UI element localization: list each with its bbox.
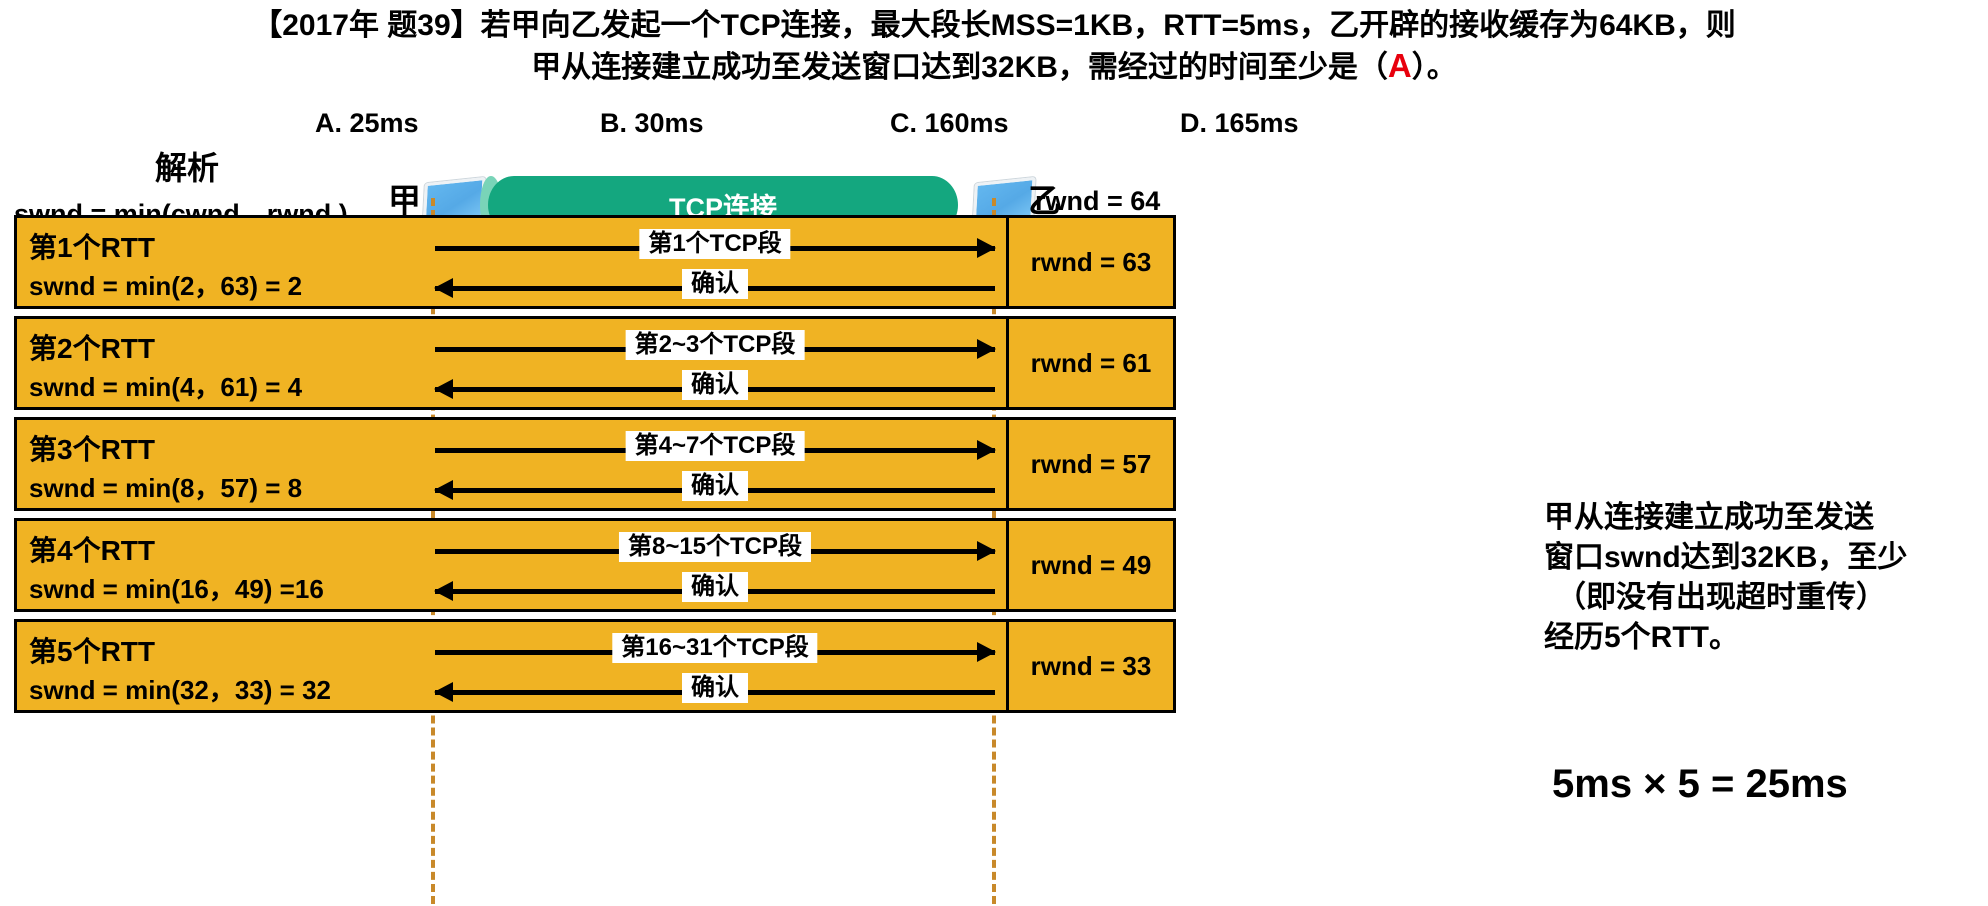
question-line-2: 甲从连接建立成功至发送窗口达到32KB，需经过的时间至少是（A）。 [0,46,1988,88]
rtt-swnd: swnd = min(16，49) =16 [29,569,324,606]
rtt-row: 第3个RTT swnd = min(8，57) = 8 第4~7个TCP段 确认… [14,417,1176,511]
explanation-line-1: 甲从连接建立成功至发送 [1544,492,1874,536]
segment-label: 第1个TCP段 [639,229,790,259]
rtt-swnd: swnd = min(32，33) = 32 [29,670,331,707]
rwnd-value: rwnd = 57 [1006,420,1173,508]
explanation-line-4: 经历5个RTT。 [1544,612,1739,656]
ack-label: 确认 [682,370,748,400]
rtt-row: 第4个RTT swnd = min(16，49) =16 第8~15个TCP段 … [14,518,1176,612]
rtt-row: 第2个RTT swnd = min(4，61) = 4 第2~3个TCP段 确认… [14,316,1176,410]
question-line-1: 【2017年 题39】若甲向乙发起一个TCP连接，最大段长MSS=1KB，RTT… [0,6,1988,46]
rwnd-value: rwnd = 61 [1006,319,1173,407]
rwnd-initial-value: rwnd = 64 [1035,186,1160,217]
arrow-head-right-icon [977,440,996,460]
rtt-title: 第4个RTT [29,529,155,569]
arrow-head-right-icon [977,541,996,561]
arrow-head-left-icon [434,682,453,702]
rwnd-value: rwnd = 63 [1006,218,1173,306]
segment-label: 第8~15个TCP段 [619,532,811,562]
rtt-title: 第2个RTT [29,327,155,367]
arrow-head-left-icon [434,379,453,399]
arrow-head-right-icon [977,339,996,359]
rtt-row: 第5个RTT swnd = min(32，33) = 32 第16~31个TCP… [14,619,1176,713]
option-a[interactable]: A. 25ms [315,108,419,139]
question-line-2-after: ）。 [1412,51,1457,84]
explanation-line-3: （即没有出现超时重传） [1556,572,1886,616]
arrow-head-right-icon [977,238,996,258]
arrow-head-left-icon [434,480,453,500]
segment-label: 第2~3个TCP段 [626,330,805,360]
arrow-head-left-icon [434,278,453,298]
rtt-title: 第3个RTT [29,428,155,468]
question-block: 【2017年 题39】若甲向乙发起一个TCP连接，最大段长MSS=1KB，RTT… [0,6,1988,88]
rtt-rows-container: 第1个RTT swnd = min(2，63) = 2 第1个TCP段 确认 r… [14,215,1176,720]
segment-label: 第4~7个TCP段 [626,431,805,461]
question-line-2-before: 甲从连接建立成功至发送窗口达到32KB，需经过的时间至少是（ [531,51,1388,84]
rtt-title: 第1个RTT [29,226,155,266]
rwnd-value: rwnd = 49 [1006,521,1173,609]
segment-label: 第16~31个TCP段 [612,633,817,663]
arrow-head-right-icon [977,642,996,662]
ack-label: 确认 [682,471,748,501]
ack-label: 确认 [682,269,748,299]
rtt-swnd: swnd = min(2，63) = 2 [29,266,302,303]
arrow-head-left-icon [434,581,453,601]
ack-label: 确认 [682,572,748,602]
rwnd-value: rwnd = 33 [1006,622,1173,710]
ack-label: 确认 [682,673,748,703]
answer-letter: A [1388,47,1412,84]
option-d[interactable]: D. 165ms [1180,108,1299,139]
option-c[interactable]: C. 160ms [890,108,1009,139]
explanation-line-2: 窗口swnd达到32KB，至少 [1544,532,1907,576]
options-row: A. 25ms B. 30ms C. 160ms D. 165ms [0,108,1988,142]
rtt-row: 第1个RTT swnd = min(2，63) = 2 第1个TCP段 确认 r… [14,215,1176,309]
rtt-title: 第5个RTT [29,630,155,670]
rtt-swnd: swnd = min(4，61) = 4 [29,367,302,404]
result-formula: 5ms × 5 = 25ms [1552,762,1848,807]
rtt-swnd: swnd = min(8，57) = 8 [29,468,302,505]
option-b[interactable]: B. 30ms [600,108,704,139]
